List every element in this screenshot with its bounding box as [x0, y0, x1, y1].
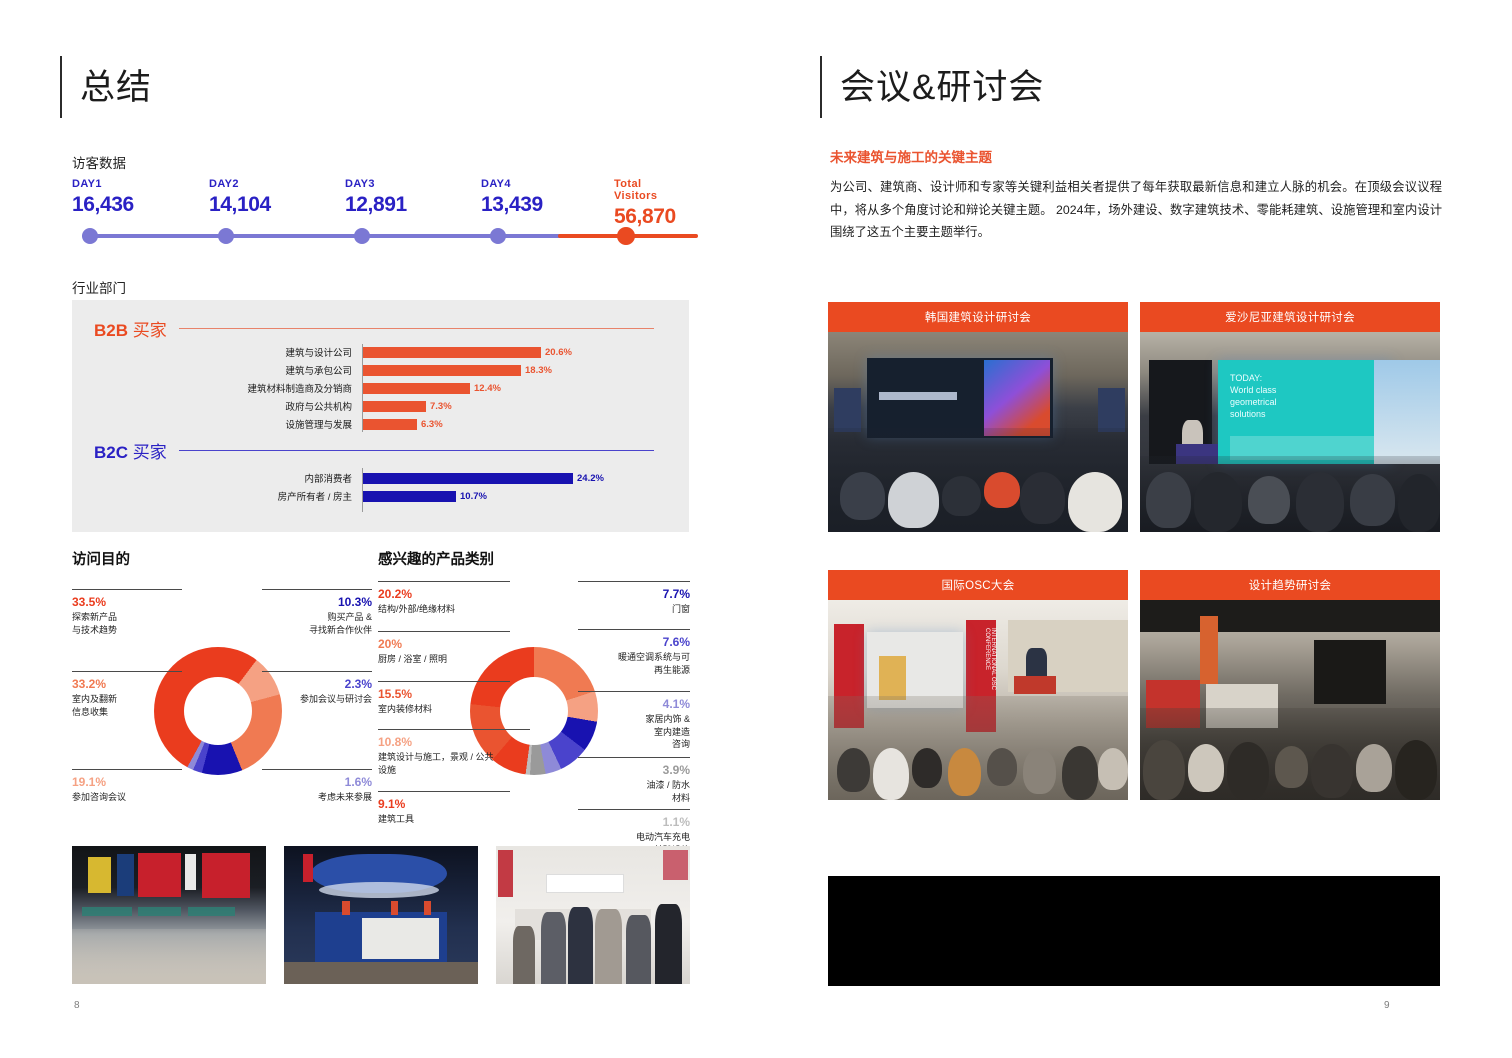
timeline-total-label: Total Visitors	[614, 178, 682, 202]
conference-caption: 爱沙尼亚建筑设计研讨会	[1140, 302, 1440, 332]
bar-fill	[363, 347, 541, 358]
timeline-entry-total: Total Visitors 56,870	[614, 178, 682, 229]
bar-value: 20.6%	[545, 347, 572, 358]
chart-title: 感兴趣的产品类别	[378, 548, 690, 569]
stat-percent: 1.6%	[262, 775, 372, 790]
purpose-stat-1: 33.5% 探索新产品 与技术趋势	[72, 589, 182, 636]
bar-value: 12.4%	[474, 383, 501, 394]
gallery-photo-exhibition-hall	[72, 846, 266, 984]
bar-fill	[363, 383, 470, 394]
slide-text: TODAY: World class geometrical solutions	[1230, 372, 1356, 424]
product-stat-8: 4.1% 家居内饰 & 室内建造 咨询	[578, 691, 690, 751]
timeline-dot-day4	[490, 228, 506, 244]
stat-percent: 3.9%	[578, 763, 690, 778]
purpose-stat-2: 33.2% 室内及翻新 信息收集	[72, 671, 182, 718]
gallery-photo-trend-seminar	[284, 846, 478, 984]
purpose-stat-3: 19.1% 参加咨询会议	[72, 769, 182, 804]
stat-rule	[378, 681, 510, 682]
stat-percent: 4.1%	[578, 697, 690, 712]
bar-value: 10.7%	[460, 491, 487, 502]
conference-caption: 韩国建筑设计研讨会	[828, 302, 1128, 332]
bar-row: 政府与公共机构 7.3%	[72, 398, 689, 414]
stat-description: 室内及翻新 信息收集	[72, 693, 182, 718]
purpose-stat-4: 10.3% 购买产品 & 寻找新合作伙伴	[262, 589, 372, 636]
product-stat-5: 9.1% 建筑工具	[378, 791, 510, 826]
stat-percent: 2.3%	[262, 677, 372, 692]
b2b-label: B2B 买家	[94, 316, 167, 341]
conference-card-osc[interactable]: 国际OSC大会 INTERNATIONAL OSC CONFERENCE	[828, 570, 1128, 800]
conference-photo	[828, 332, 1128, 532]
conference-caption: 设计趋势研讨会	[1140, 570, 1440, 600]
bar-label: 建筑与承包公司	[158, 363, 358, 377]
bar-label: 政府与公共机构	[158, 399, 358, 413]
product-stat-1: 20.2% 结构/外部/绝缘材料	[378, 581, 510, 616]
stat-rule	[262, 769, 372, 770]
timeline-day-label: DAY1	[72, 178, 134, 190]
document-spread: 总结 访客数据 DAY1 16,436 DAY2 14,104 DAY3 12,…	[0, 0, 1512, 1058]
page-title-text: 总结	[80, 70, 152, 105]
sector-section-label: 行业部门	[72, 277, 126, 297]
stat-rule	[378, 729, 530, 730]
b2b-rule	[179, 328, 654, 330]
stat-description: 参加会议与研讨会	[262, 693, 372, 706]
stat-rule	[578, 629, 690, 630]
bar-fill	[363, 419, 417, 430]
stat-description: 结构/外部/绝缘材料	[378, 603, 510, 616]
bar-fill	[363, 365, 521, 376]
stat-rule	[72, 769, 182, 770]
stat-percent: 1.1%	[578, 815, 690, 830]
page-title-left: 总结	[60, 56, 152, 118]
conference-photo: INTERNATIONAL OSC CONFERENCE	[828, 600, 1128, 800]
stat-percent: 10.8%	[378, 735, 530, 750]
b2c-segment-header: B2C 买家	[94, 438, 654, 463]
timeline-day-value: 14,104	[209, 193, 271, 217]
timeline-day-value: 16,436	[72, 193, 134, 217]
timeline-day-value: 13,439	[481, 193, 543, 217]
purpose-stat-5: 2.3% 参加会议与研讨会	[262, 671, 372, 706]
bar-value: 7.3%	[430, 401, 452, 412]
right-page: 会议&研讨会 未来建筑与施工的关键主题 为公司、建筑商、设计师和专家等关键利益相…	[756, 0, 1512, 1058]
stat-percent: 7.6%	[578, 635, 690, 650]
stat-percent: 10.3%	[262, 595, 372, 610]
bar-fill	[363, 473, 573, 484]
page-number-right: 9	[1384, 1000, 1390, 1011]
section-body-text: 为公司、建筑商、设计师和专家等关键利益相关者提供了每年获取最新信息和建立人脉的机…	[830, 176, 1442, 244]
purpose-stat-6: 1.6% 考虑未来参展	[262, 769, 372, 804]
bar-row: 设施管理与发展 6.3%	[72, 416, 689, 432]
timeline-day-label: DAY4	[481, 178, 543, 190]
stat-description: 建筑工具	[378, 813, 510, 826]
b2b-segment-header: B2B 买家	[94, 316, 654, 341]
product-stat-2: 20% 厨房 / 浴室 / 照明	[378, 631, 510, 666]
conference-photo: TODAY: World class geometrical solutions	[1140, 332, 1440, 532]
bar-label: 设施管理与发展	[158, 417, 358, 431]
stat-rule	[578, 581, 690, 582]
stat-description: 考虑未来参展	[262, 791, 372, 804]
chart-title: 访问目的	[72, 548, 372, 569]
stat-description: 室内装修材料	[378, 703, 510, 716]
conference-card-design-trend[interactable]: 设计趋势研讨会	[1140, 570, 1440, 800]
stat-description: 油漆 / 防水 材料	[578, 779, 690, 804]
timeline-total-value: 56,870	[614, 205, 682, 229]
bar-value: 18.3%	[525, 365, 552, 376]
gallery-photo-visitors	[496, 846, 690, 984]
conference-photo	[1140, 600, 1440, 800]
stat-rule	[378, 631, 510, 632]
page-title-text: 会议&研讨会	[840, 70, 1044, 105]
bar-row: 建筑与设计公司 20.6%	[72, 344, 689, 360]
stat-rule	[578, 809, 690, 810]
product-stat-9: 3.9% 油漆 / 防水 材料	[578, 757, 690, 804]
visit-purpose-chart: 访问目的 33.5% 探索新产品 与技术趋势 33.2% 室内及翻新 信息收集	[72, 548, 372, 823]
product-stat-7: 7.6% 暖通空调系统与可 再生能源	[578, 629, 690, 676]
bar-label: 建筑与设计公司	[158, 345, 358, 359]
stat-description: 购买产品 & 寻找新合作伙伴	[262, 611, 372, 636]
timeline-dot-day3	[354, 228, 370, 244]
bar-label: 内部消费者	[158, 471, 358, 485]
bar-fill	[363, 491, 456, 502]
product-stat-4: 10.8% 建筑设计与施工，景观 / 公共 设施	[378, 729, 530, 776]
stat-description: 暖通空调系统与可 再生能源	[578, 651, 690, 676]
stat-percent: 33.5%	[72, 595, 182, 610]
timeline-day-label: DAY2	[209, 178, 271, 190]
stat-rule	[378, 791, 510, 792]
bar-row: 房产所有者 / 房主 10.7%	[72, 488, 689, 504]
stat-percent: 20%	[378, 637, 510, 652]
title-accent-bar	[820, 56, 822, 118]
stat-description: 建筑设计与施工，景观 / 公共 设施	[378, 751, 530, 776]
stat-rule	[262, 671, 372, 672]
b2c-rule	[179, 450, 654, 452]
bar-row: 建筑材料制造商及分销商 12.4%	[72, 380, 689, 396]
b2c-label: B2C 买家	[94, 438, 167, 463]
stat-percent: 7.7%	[578, 587, 690, 602]
product-category-chart: 感兴趣的产品类别 20.2% 结构/外部/绝缘材料 20% 厨房 / 浴室 / …	[378, 548, 690, 831]
stat-description: 探索新产品 与技术趋势	[72, 611, 182, 636]
stat-rule	[72, 589, 182, 590]
stat-percent: 33.2%	[72, 677, 182, 692]
stat-percent: 20.2%	[378, 587, 510, 602]
timeline-dot-day2	[218, 228, 234, 244]
bar-row: 内部消费者 24.2%	[72, 470, 689, 486]
stat-rule	[578, 691, 690, 692]
product-stat-3: 15.5% 室内装修材料	[378, 681, 510, 716]
media-placeholder-block	[828, 876, 1440, 986]
stat-rule	[72, 671, 182, 672]
stat-description: 厨房 / 浴室 / 照明	[378, 653, 510, 666]
stat-rule	[578, 757, 690, 758]
bar-label: 房产所有者 / 房主	[158, 489, 358, 503]
stat-rule	[378, 581, 510, 582]
timeline-day-label: DAY3	[345, 178, 407, 190]
timeline-day-value: 12,891	[345, 193, 407, 217]
stat-percent: 9.1%	[378, 797, 510, 812]
stat-description: 家居内饰 & 室内建造 咨询	[578, 713, 690, 751]
page-title-right: 会议&研讨会	[820, 56, 1044, 118]
stat-rule	[262, 589, 372, 590]
section-subtitle: 未来建筑与施工的关键主题	[830, 146, 992, 166]
title-accent-bar	[60, 56, 62, 118]
timeline-entry-day1: DAY1 16,436	[72, 178, 134, 217]
timeline-dot-day1	[82, 228, 98, 244]
stat-description: 参加咨询会议	[72, 791, 182, 804]
stat-percent: 19.1%	[72, 775, 182, 790]
visitor-section-label: 访客数据	[72, 152, 126, 172]
page-number-left: 8	[74, 1000, 80, 1011]
bar-value: 24.2%	[577, 473, 604, 484]
bar-value: 6.3%	[421, 419, 443, 430]
stat-percent: 15.5%	[378, 687, 510, 702]
timeline-dot-total	[617, 227, 635, 245]
timeline-entry-day3: DAY3 12,891	[345, 178, 407, 217]
bar-fill	[363, 401, 426, 412]
timeline-entry-day2: DAY2 14,104	[209, 178, 271, 217]
conference-caption: 国际OSC大会	[828, 570, 1128, 600]
industry-sector-chart: B2B 买家 建筑与设计公司 20.6% 建筑与承包公司 18.3% 建筑材料制…	[72, 300, 689, 532]
left-page: 总结 访客数据 DAY1 16,436 DAY2 14,104 DAY3 12,…	[0, 0, 756, 1058]
stat-description: 门窗	[578, 603, 690, 616]
product-stat-6: 7.7% 门窗	[578, 581, 690, 616]
timeline-entry-day4: DAY4 13,439	[481, 178, 543, 217]
bar-label: 建筑材料制造商及分销商	[158, 381, 358, 395]
conference-card-estonia[interactable]: 爱沙尼亚建筑设计研讨会 TODAY: World class geometric…	[1140, 302, 1440, 532]
conference-card-korea[interactable]: 韩国建筑设计研讨会	[828, 302, 1128, 532]
bar-row: 建筑与承包公司 18.3%	[72, 362, 689, 378]
visitor-timeline-chart: DAY1 16,436 DAY2 14,104 DAY3 12,891 DAY4…	[72, 178, 682, 248]
donut-hole	[184, 677, 252, 745]
